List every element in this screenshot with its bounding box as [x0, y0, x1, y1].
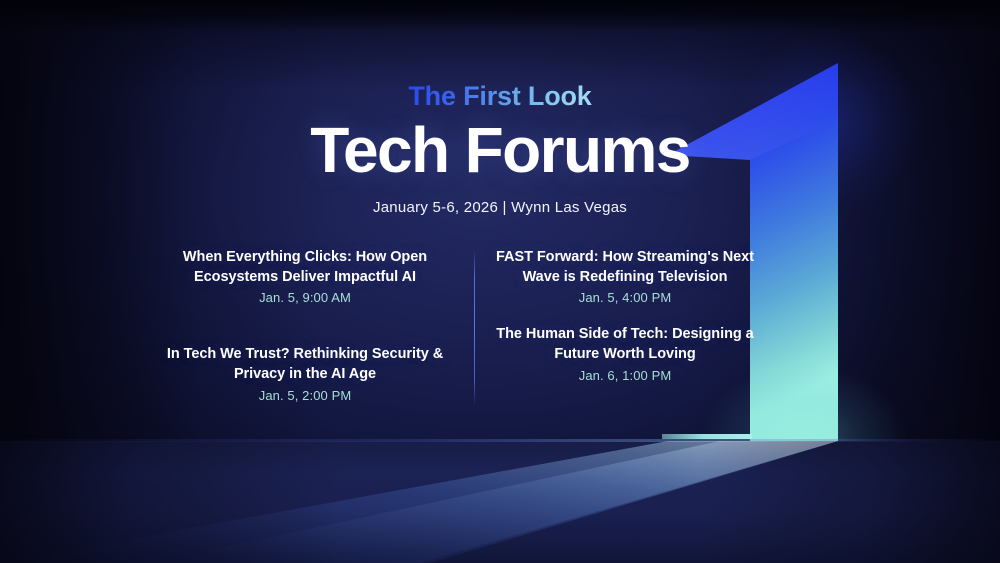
event-kicker: The First Look	[408, 82, 591, 112]
floor-shadow-right	[700, 441, 1000, 563]
session-item[interactable]: When Everything Clicks: How Open Ecosyst…	[140, 248, 470, 305]
promo-slide: The First Look Tech Forums January 5-6, …	[0, 0, 1000, 563]
session-time: Jan. 5, 9:00 AM	[140, 290, 470, 305]
session-title: The Human Side of Tech: Designing a Futu…	[480, 325, 770, 364]
session-time: Jan. 5, 2:00 PM	[140, 388, 470, 403]
session-title: In Tech We Trust? Rethinking Security & …	[140, 345, 470, 384]
session-time: Jan. 6, 1:00 PM	[480, 368, 770, 383]
session-item[interactable]: The Human Side of Tech: Designing a Futu…	[480, 325, 770, 382]
session-list: When Everything Clicks: How Open Ecosyst…	[0, 248, 1000, 413]
session-time: Jan. 5, 4:00 PM	[480, 290, 770, 305]
event-date-venue: January 5-6, 2026 | Wynn Las Vegas	[0, 199, 1000, 216]
header-block: The First Look Tech Forums January 5-6, …	[0, 82, 1000, 216]
column-divider	[474, 252, 475, 404]
session-title: When Everything Clicks: How Open Ecosyst…	[140, 248, 470, 287]
session-column-left: When Everything Clicks: How Open Ecosyst…	[140, 248, 470, 403]
session-item[interactable]: FAST Forward: How Streaming's Next Wave …	[480, 248, 770, 305]
session-item[interactable]: In Tech We Trust? Rethinking Security & …	[140, 345, 470, 402]
background-top-shadow	[0, 0, 1000, 30]
page-title: Tech Forums	[0, 118, 1000, 182]
floor-shadow-left	[0, 441, 340, 563]
session-title: FAST Forward: How Streaming's Next Wave …	[480, 248, 770, 287]
session-column-right: FAST Forward: How Streaming's Next Wave …	[480, 248, 770, 383]
